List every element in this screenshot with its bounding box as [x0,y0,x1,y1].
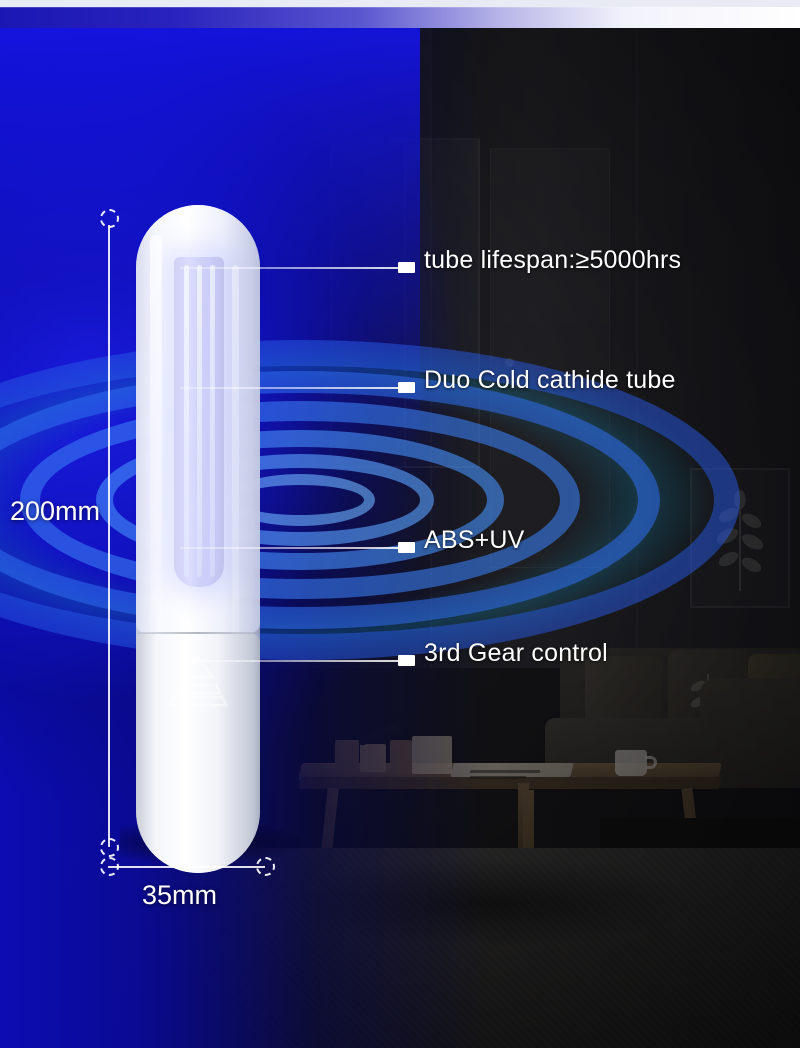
height-dimension-line [108,225,110,847]
callout-leader-line [180,267,398,269]
callout-label: 3rd Gear control [424,639,608,668]
dimension-endpoint-bottom [100,838,119,857]
callout-dash-marker [398,655,415,666]
height-dimension-label: 200mm [10,496,100,527]
top-gradient-band [0,7,800,28]
callout-label: tube lifespan:≥5000hrs [424,246,681,275]
product-feature-image: tube lifespan:≥5000hrs Duo Cold cathide … [0,0,800,1048]
width-endpoint-right [256,857,275,876]
callout-dash-marker [398,542,415,553]
top-light-band [0,0,800,7]
callout-gear-control: 3rd Gear control [180,646,720,676]
callout-tube-lifespan: tube lifespan:≥5000hrs [180,253,720,283]
top-band-hairline [0,7,800,8]
width-dimension-line [108,866,265,868]
device-seam-line [138,632,258,634]
dimension-endpoint-top [100,209,119,228]
callout-label: Duo Cold cathide tube [424,366,676,395]
callout-leader-line [180,660,398,662]
width-endpoint-left [100,857,119,876]
callout-dash-marker [398,262,415,273]
callout-leader-line [180,547,398,549]
callout-leader-line [180,387,398,389]
width-dimension-label: 35mm [142,880,217,911]
callout-cold-cathide: Duo Cold cathide tube [180,373,720,403]
callout-dash-marker [398,382,415,393]
callout-abs-uv: ABS+UV [180,533,720,563]
callout-label: ABS+UV [424,526,525,555]
